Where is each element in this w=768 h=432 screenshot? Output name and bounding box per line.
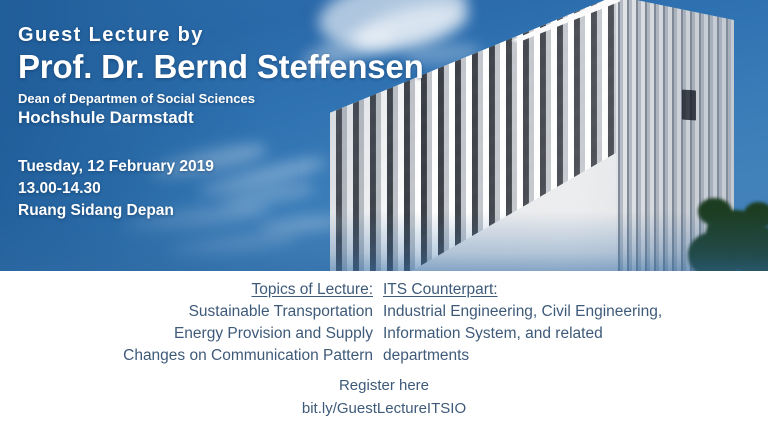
details-panel: Topics of Lecture: Sustainable Transport…	[0, 271, 768, 432]
hero-photo-region: Guest Lecture by Prof. Dr. Bernd Steffen…	[0, 0, 768, 271]
speaker-role: Dean of Departmen of Social Sciences	[18, 91, 448, 107]
topics-column: Topics of Lecture: Sustainable Transport…	[39, 279, 377, 367]
counterpart-item: Industrial Engineering, Civil Engineerin…	[383, 301, 729, 323]
register-link[interactable]: bit.ly/GuestLectureITSIO	[0, 398, 768, 421]
lecture-kicker: Guest Lecture by	[18, 24, 448, 46]
event-schedule-block: Tuesday, 12 February 2019 13.00-14.30 Ru…	[18, 156, 214, 222]
hero-headline-block: Guest Lecture by Prof. Dr. Bernd Steffen…	[18, 24, 448, 129]
details-columns: Topics of Lecture: Sustainable Transport…	[0, 279, 768, 367]
page-title: Prof. Dr. Bernd Steffensen	[18, 48, 448, 86]
lecture-poster: Guest Lecture by Prof. Dr. Bernd Steffen…	[0, 0, 768, 432]
registration-block: Register here bit.ly/GuestLectureITSIO	[0, 375, 768, 420]
counterpart-item: departments	[383, 345, 729, 367]
building-window-accent	[682, 90, 696, 121]
counterpart-heading: ITS Counterpart:	[383, 279, 729, 301]
register-label: Register here	[0, 375, 768, 398]
event-date: Tuesday, 12 February 2019	[18, 156, 214, 178]
counterpart-column: ITS Counterpart: Industrial Engineering,…	[377, 279, 729, 367]
speaker-institution: Hochshule Darmstadt	[18, 108, 448, 128]
topics-item: Changes on Communication Pattern	[39, 345, 373, 367]
topics-heading: Topics of Lecture:	[39, 279, 373, 301]
topics-item: Energy Provision and Supply	[39, 323, 373, 345]
event-venue: Ruang Sidang Depan	[18, 200, 214, 222]
event-time: 13.00-14.30	[18, 178, 214, 200]
counterpart-item: Information System, and related	[383, 323, 729, 345]
topics-item: Sustainable Transportation	[39, 301, 373, 323]
